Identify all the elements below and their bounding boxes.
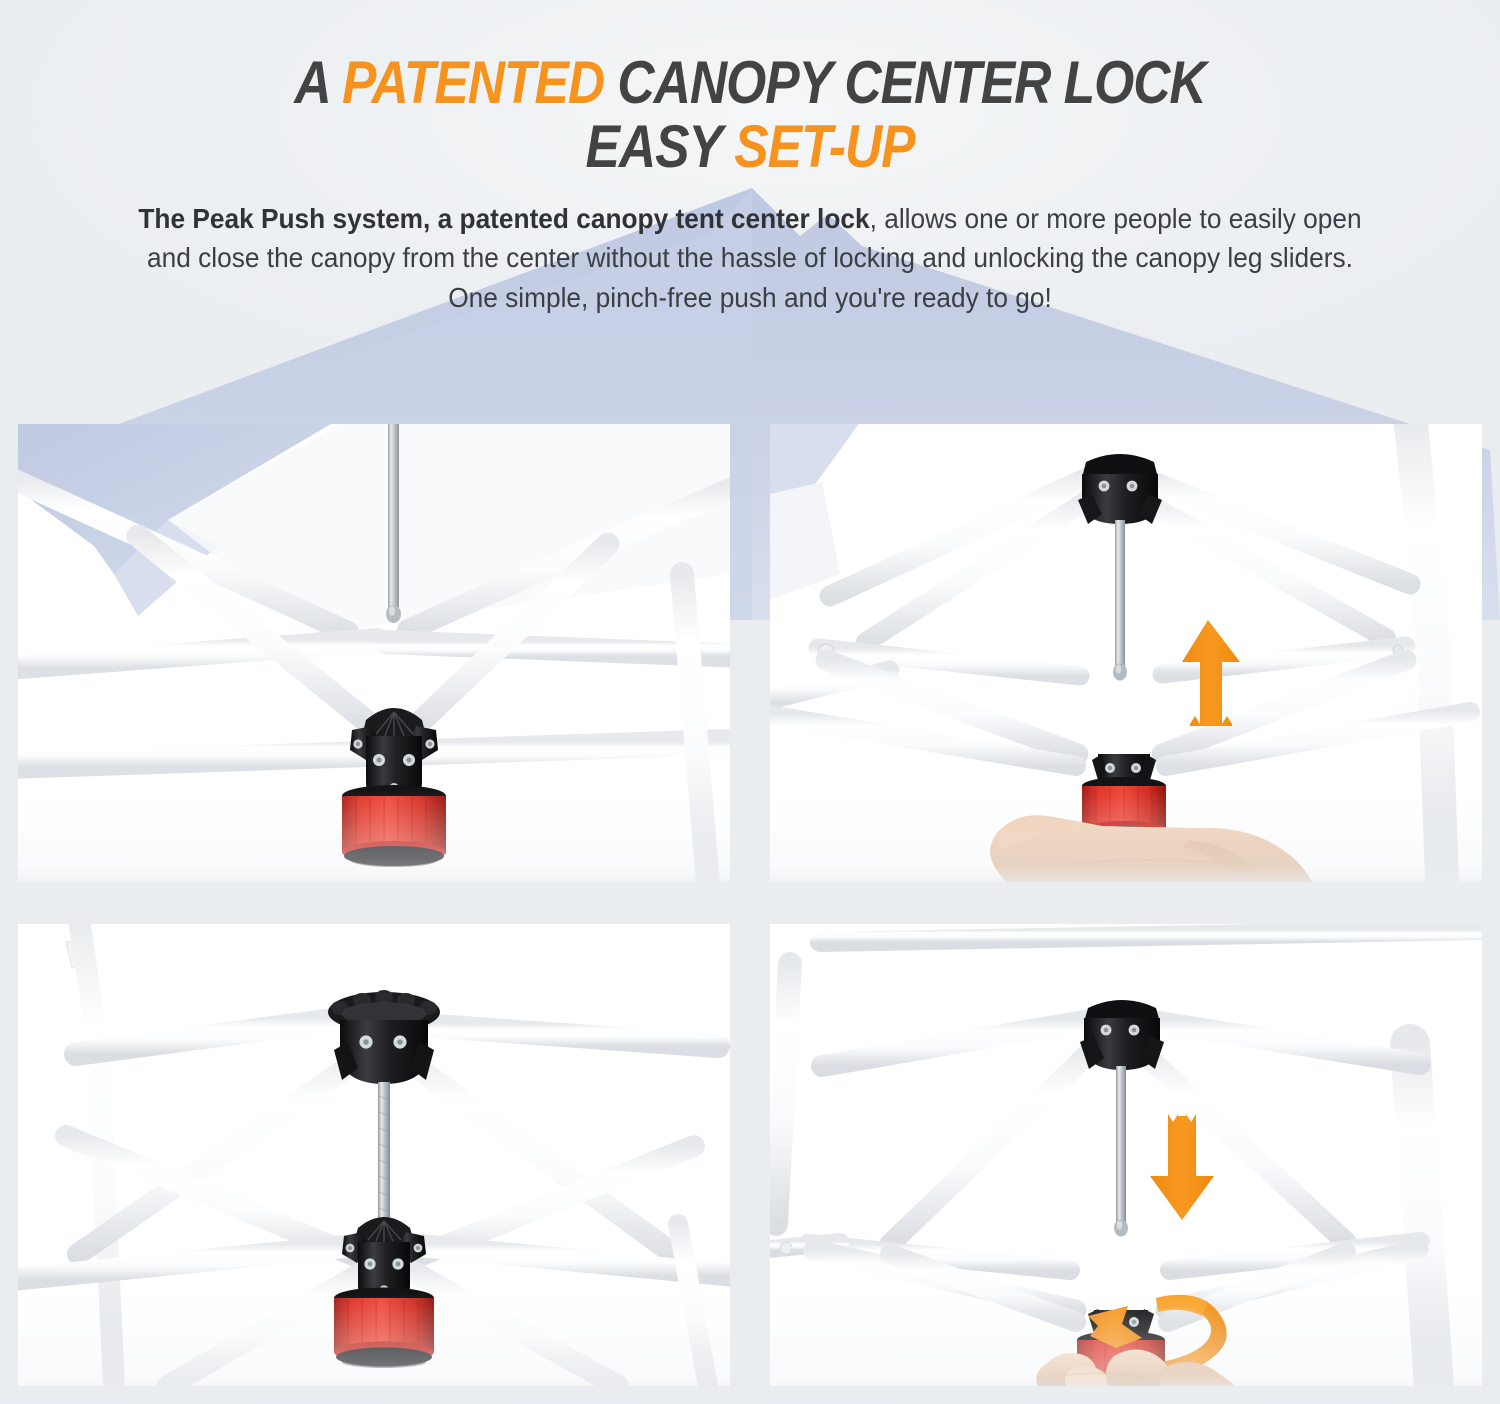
panel-push-up-to-open: Open palm pushes the red center lock upw… (770, 424, 1482, 882)
panel-center-lock-extended: Fully extended frame, threaded rod linki… (18, 924, 730, 1386)
headline-text-canopy-center-lock: CANOPY CENTER LOCK (604, 49, 1206, 116)
headline-text-a: A (294, 49, 342, 116)
subcopy-closing-line: One simple, pinch-free push and you're r… (448, 282, 1052, 313)
headline-line-2: EASY SET-UP (105, 116, 1395, 178)
header: A PATENTED CANOPY CENTER LOCK EASY SET-U… (0, 0, 1500, 318)
headline-line-1: A PATENTED CANOPY CENTER LOCK (105, 52, 1395, 114)
panel-twist-and-lower-to-close: Grip and twist the red lock, then pull d… (770, 924, 1482, 1386)
subcopy-paragraph: The Peak Push system, a patented canopy … (124, 199, 1375, 318)
feature-photo-grid: Canopy frame with center lock hub engage… (18, 424, 1482, 1386)
headline-text-easy: EASY (586, 113, 735, 180)
headline-highlight-patented: PATENTED (342, 49, 604, 116)
headline-highlight-setup: SET-UP (734, 113, 914, 180)
product-feature-page: A PATENTED CANOPY CENTER LOCK EASY SET-U… (0, 0, 1500, 1404)
panel-center-lock-closed: Canopy frame with center lock hub engage… (18, 424, 730, 882)
subcopy-bold-lead: The Peak Push system, a patented canopy … (138, 203, 869, 234)
